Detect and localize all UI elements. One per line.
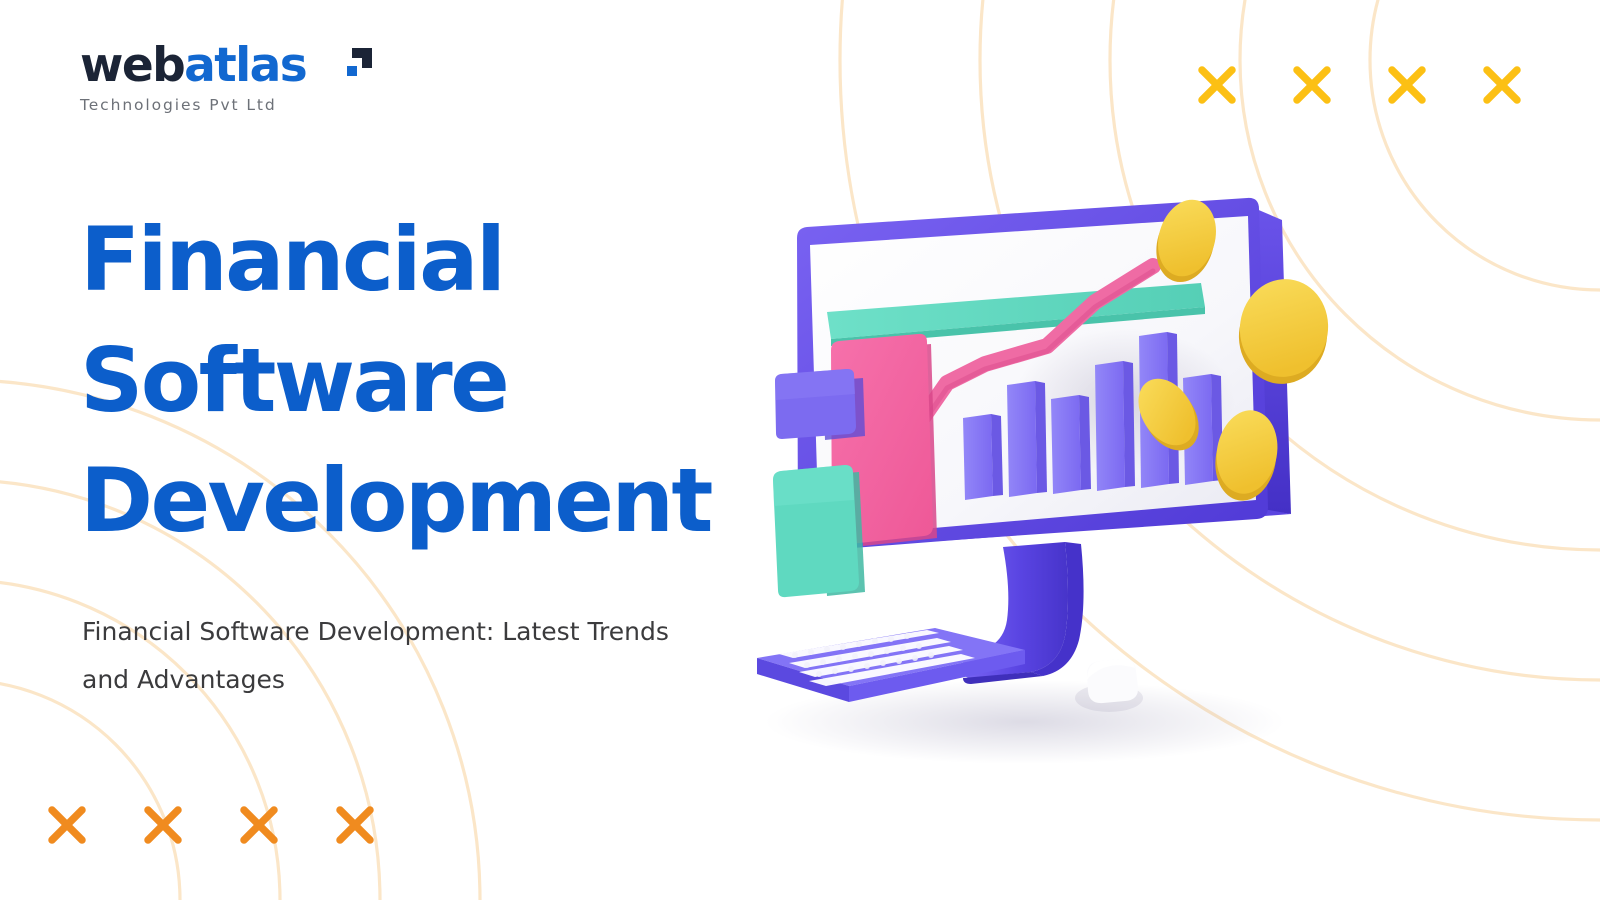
page-title: Financial Software Development	[80, 200, 780, 562]
computer-analytics-illustration	[735, 150, 1375, 770]
bar-2	[1007, 381, 1047, 497]
close-x-icon	[1289, 62, 1335, 108]
close-x-icon	[236, 802, 282, 848]
x-decoration-group-bottom-left	[44, 802, 378, 848]
x-decoration-group-top-right	[1194, 62, 1525, 108]
close-x-icon	[140, 802, 186, 848]
bar-1	[963, 414, 1003, 500]
arrow-up-right-icon	[327, 44, 375, 86]
brand-logo[interactable]: webatlas Technologies Pvt Ltd	[80, 42, 380, 132]
headline-line-3: Development	[80, 441, 780, 562]
bar-4	[1095, 361, 1135, 491]
close-x-icon	[1384, 62, 1430, 108]
headline-line-1: Financial	[80, 200, 780, 321]
bar-3	[1051, 395, 1091, 494]
monitor	[773, 193, 1334, 684]
page-subtitle: Financial Software Development: Latest T…	[82, 608, 682, 704]
close-x-icon	[1194, 62, 1240, 108]
close-x-icon	[1479, 62, 1525, 108]
close-x-icon	[44, 802, 90, 848]
purple-square-card	[775, 369, 865, 440]
teal-rounded-card	[773, 465, 865, 597]
logo-word-web: web	[80, 38, 184, 93]
logo-word-atlas: atlas	[184, 38, 306, 93]
logo-tagline: Technologies Pvt Ltd	[80, 96, 380, 114]
banner-canvas: webatlas Technologies Pvt Ltd Financial …	[0, 0, 1600, 900]
close-x-icon	[332, 802, 378, 848]
headline-line-2: Software	[80, 321, 780, 442]
